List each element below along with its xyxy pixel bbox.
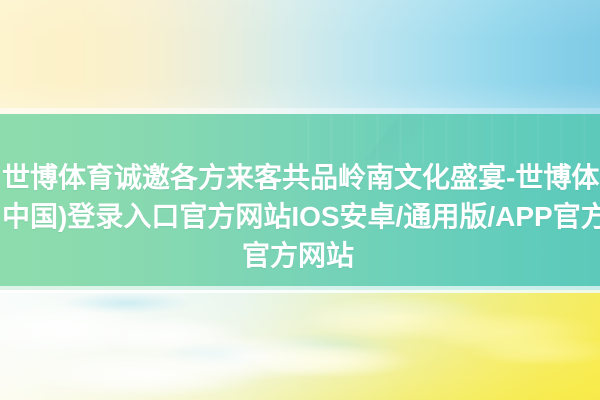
bottom-cloud-band <box>0 290 600 400</box>
headline-line-2: 中国)登录入口官方网站IOS安卓/通用版/APP官方网站 <box>2 197 600 236</box>
bottom-band-top-seam <box>0 290 600 293</box>
headline-text: 世博体育诚邀各方来客共品岭南文化盛宴-世博体育( 中国)登录入口官方网站IOS安… <box>2 158 600 275</box>
headline-line-1: 世博体育诚邀各方来客共品岭南文化盛宴-世博体育( <box>2 158 600 197</box>
yellow-wash-overlay <box>0 290 600 400</box>
top-gradient-shading <box>0 0 600 114</box>
banner-image: 世博体育诚邀各方来客共品岭南文化盛宴-世博体育( 中国)登录入口官方网站IOS安… <box>0 0 600 400</box>
headline-line-3: 官方网站 <box>2 236 600 275</box>
